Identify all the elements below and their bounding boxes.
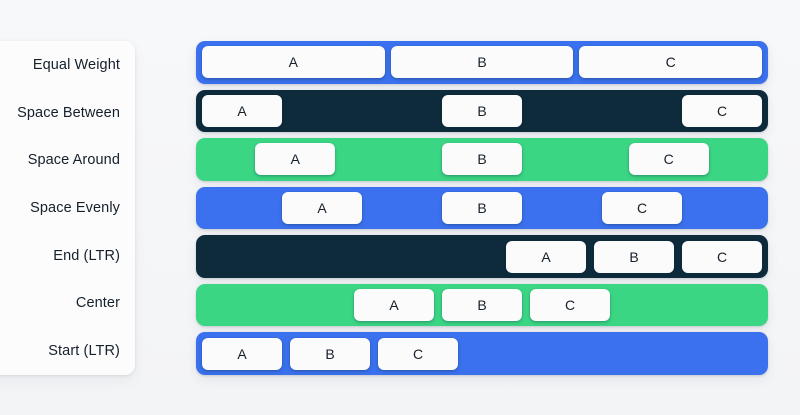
alignment-track: ABC — [196, 41, 768, 84]
chip-item[interactable]: C — [378, 338, 458, 370]
chip-item[interactable]: B — [442, 143, 522, 175]
row-label: End (LTR) — [0, 232, 120, 280]
chip-item[interactable]: A — [282, 192, 362, 224]
row-label: Start (LTR) — [0, 327, 120, 375]
row-label: Center — [0, 280, 120, 328]
chip-item[interactable]: A — [255, 143, 335, 175]
chip-item[interactable]: C — [602, 192, 682, 224]
chip-item[interactable]: A — [202, 338, 282, 370]
chip-item[interactable]: C — [579, 46, 762, 78]
layout-demo-stage: Equal WeightSpace BetweenSpace AroundSpa… — [0, 0, 800, 415]
alignment-track: ABC — [196, 90, 768, 133]
chip-item[interactable]: C — [629, 143, 709, 175]
row-label: Equal Weight — [0, 41, 120, 89]
chip-item[interactable]: A — [202, 46, 385, 78]
chip-item[interactable]: B — [442, 289, 522, 321]
alignment-track: ABC — [196, 284, 768, 327]
chip-item[interactable]: A — [202, 95, 282, 127]
alignment-track: ABC — [196, 138, 768, 181]
chip-item[interactable]: B — [391, 46, 574, 78]
chip-item[interactable]: B — [442, 192, 522, 224]
chip-item[interactable]: A — [354, 289, 434, 321]
alignment-rows-container: ABCABCABCABCABCABCABC — [196, 41, 768, 375]
alignment-track: ABC — [196, 235, 768, 278]
chip-item[interactable]: B — [594, 241, 674, 273]
chip-item[interactable]: C — [530, 289, 610, 321]
chip-item[interactable]: C — [682, 95, 762, 127]
row-label: Space Around — [0, 136, 120, 184]
chip-item[interactable]: C — [682, 241, 762, 273]
row-label: Space Evenly — [0, 184, 120, 232]
chip-item[interactable]: A — [506, 241, 586, 273]
chip-item[interactable]: B — [290, 338, 370, 370]
alignment-track: ABC — [196, 332, 768, 375]
chip-item[interactable]: B — [442, 95, 522, 127]
row-label: Space Between — [0, 89, 120, 137]
alignment-track: ABC — [196, 187, 768, 230]
row-label-panel: Equal WeightSpace BetweenSpace AroundSpa… — [0, 41, 135, 375]
